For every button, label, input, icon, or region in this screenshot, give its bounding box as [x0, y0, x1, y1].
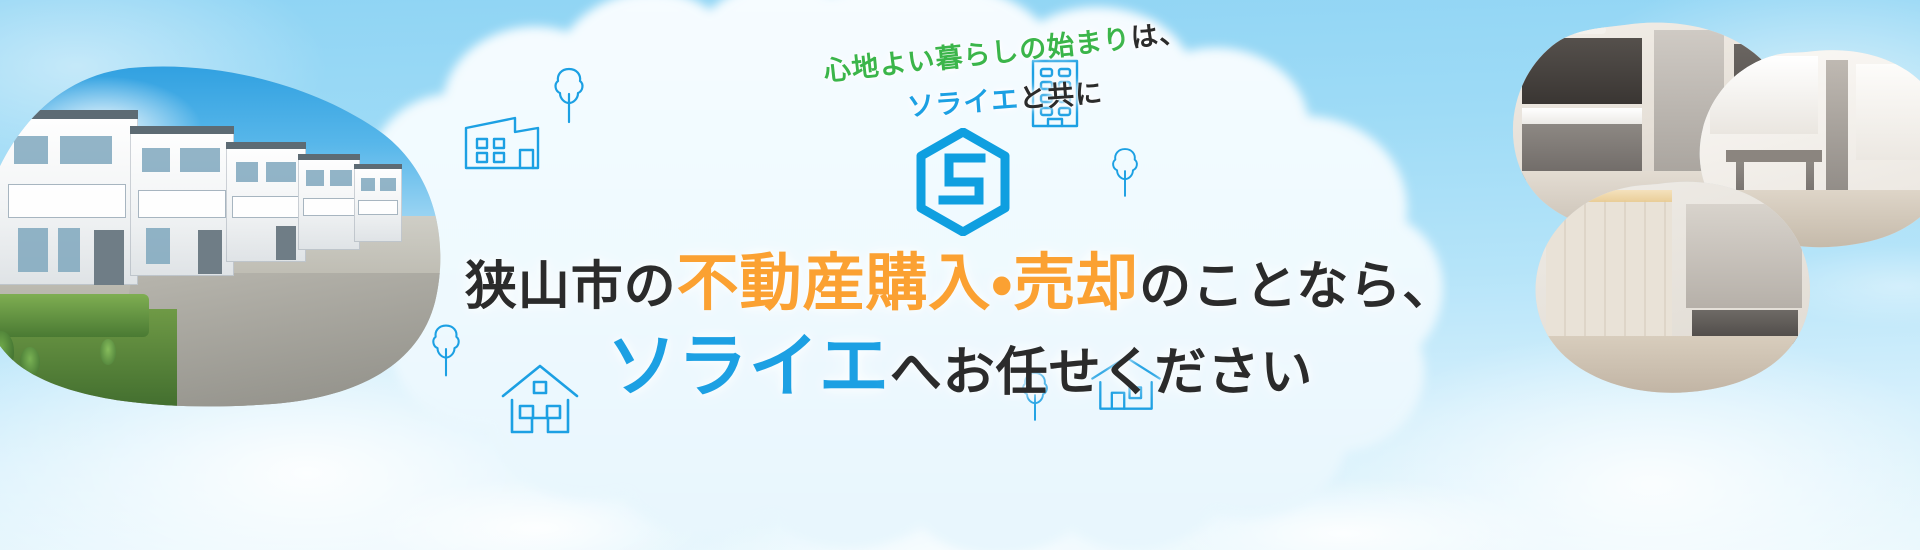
tree-icon-2 [1110, 144, 1140, 200]
tree-icon-4 [1020, 368, 1050, 424]
tall-office-building-icon [1028, 56, 1082, 128]
tree-icon-3 [430, 320, 462, 380]
tree-icon [552, 64, 586, 126]
factory-building-icon [463, 112, 541, 172]
photo-exterior-townhouse-row [0, 60, 450, 390]
soraie-hexagon-logo [913, 128, 1013, 236]
hero-banner: 心地よい暮らしの始まりは、 ソライエと共に 狭山市の不動産購入・売却のことなら、… [0, 0, 1920, 550]
house-icon-2 [1088, 352, 1164, 414]
photo-interior-cluster [1500, 10, 1920, 430]
house-icon [498, 358, 582, 438]
